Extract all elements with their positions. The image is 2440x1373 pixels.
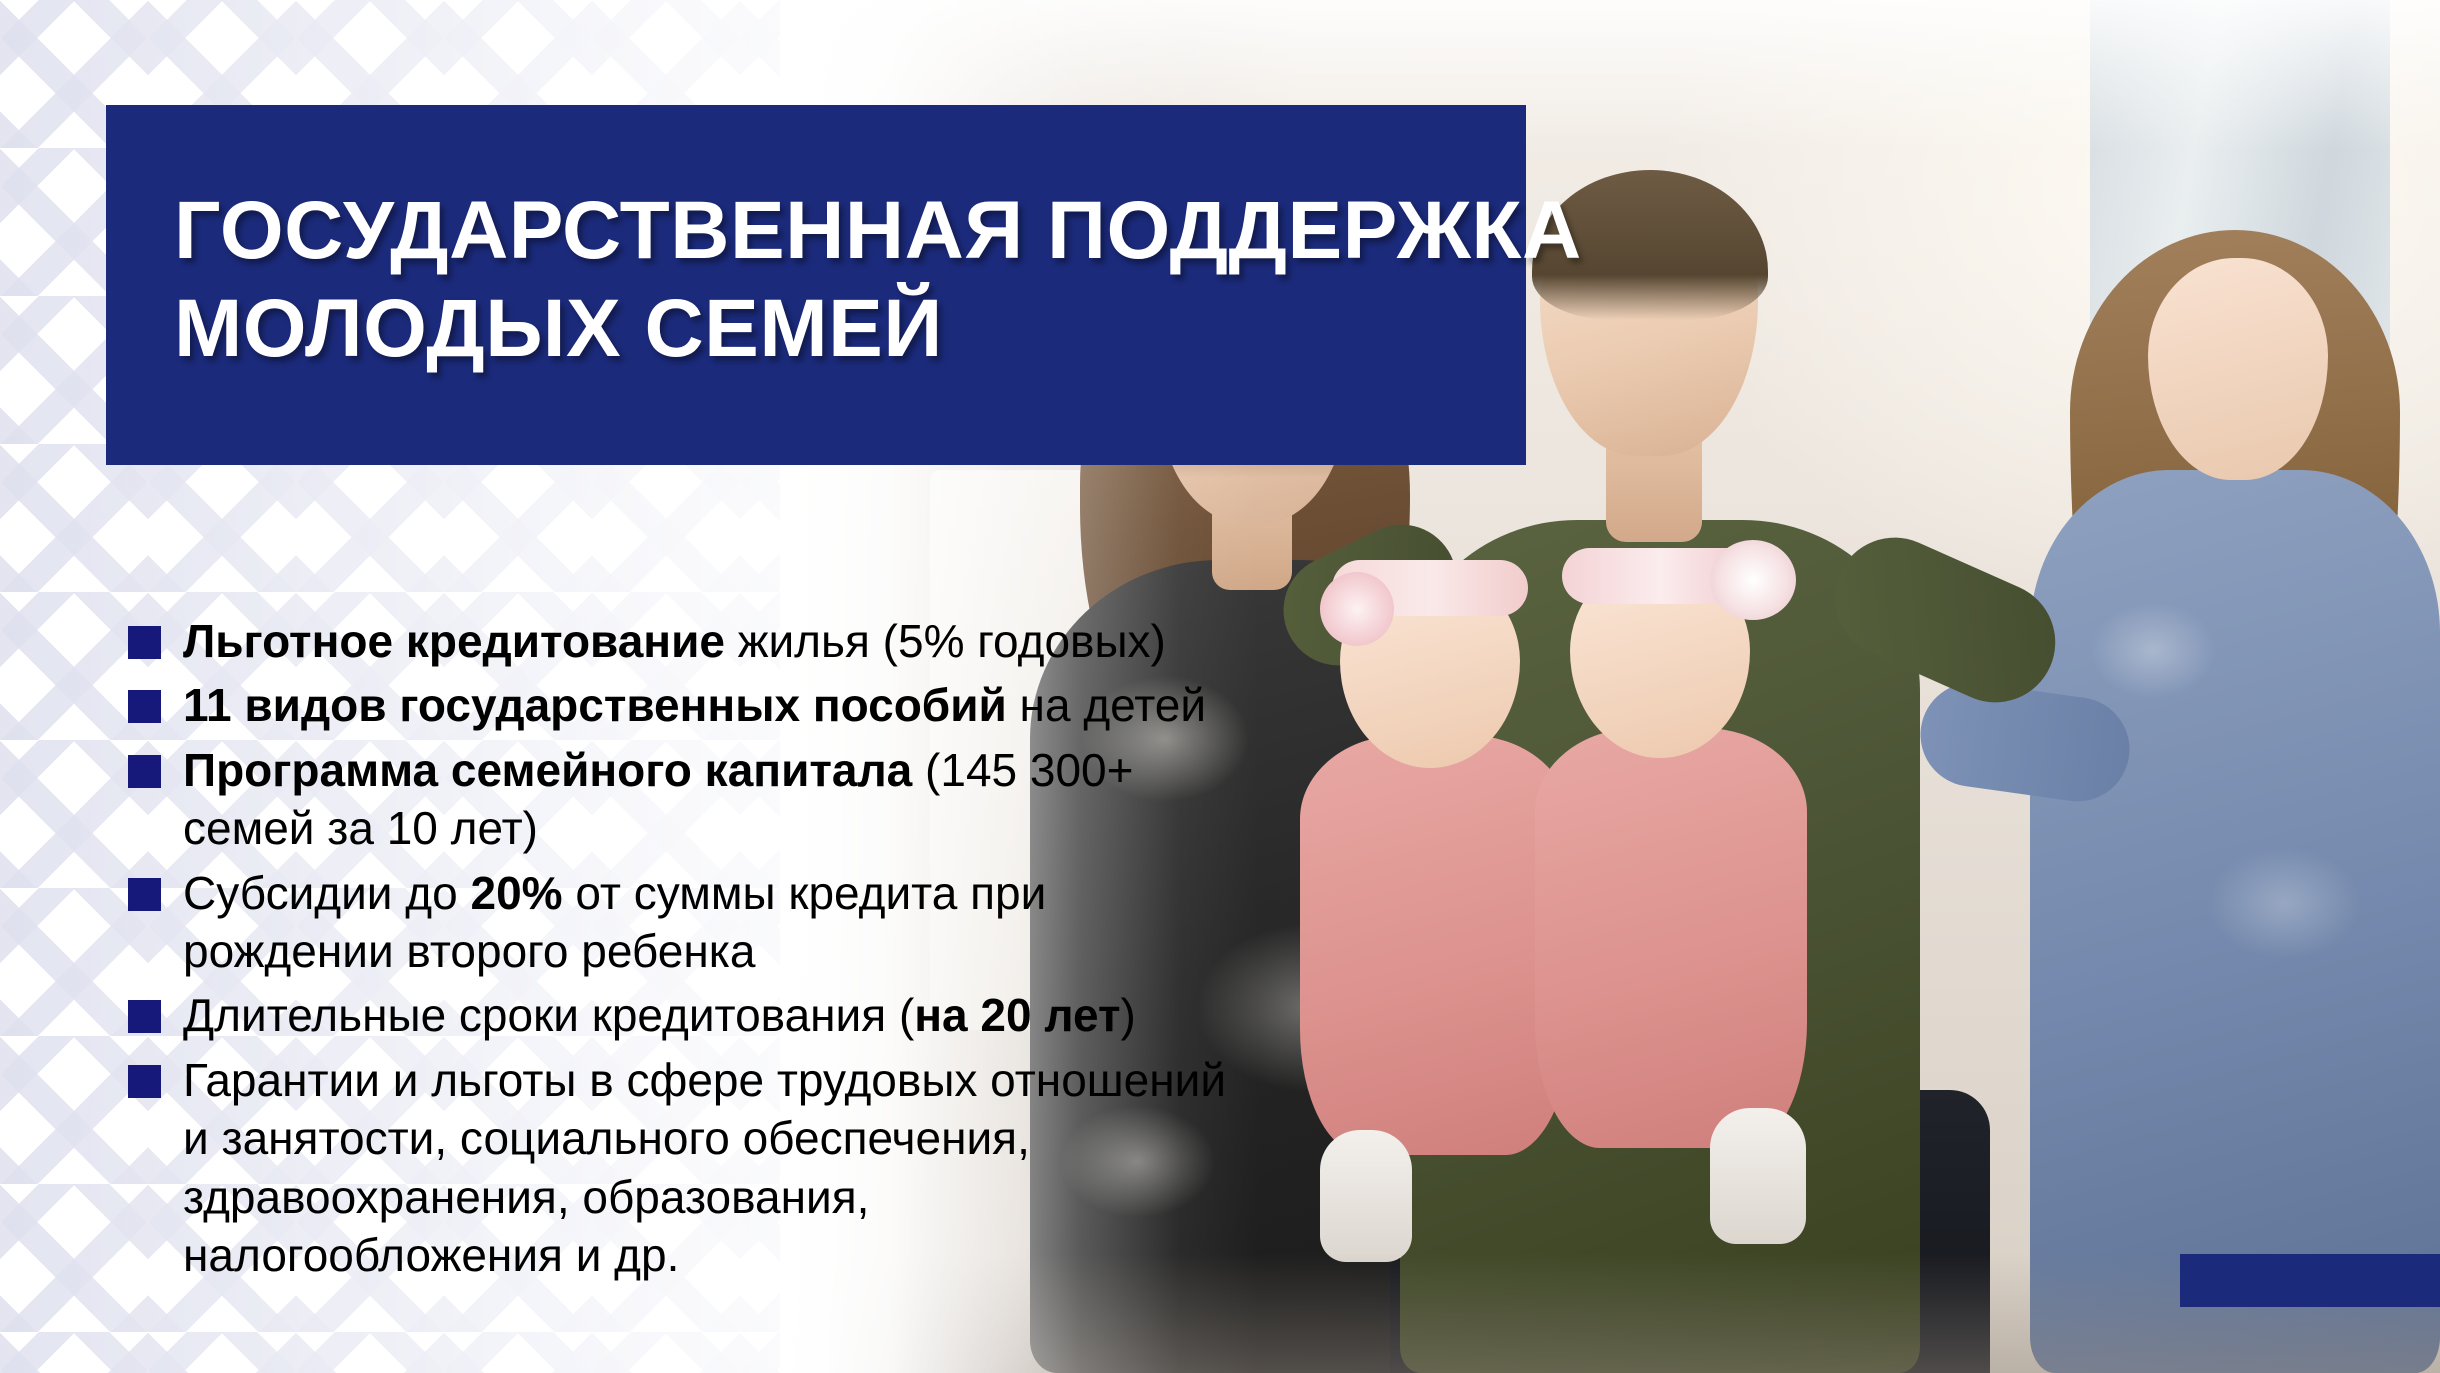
bullet-square-icon bbox=[128, 878, 161, 911]
bullet-pre: Субсидии до bbox=[183, 867, 470, 919]
bullet-rest: жилья (5% годовых) bbox=[725, 615, 1166, 667]
slide-canvas: ГОСУДАРСТВЕННАЯ ПОДДЕРЖКА МОЛОДЫХ СЕМЕЙ … bbox=[0, 0, 2440, 1373]
twin-right-flower bbox=[1710, 540, 1796, 620]
bullet-text-preferential-lending: Льготное кредитование жилья (5% годовых) bbox=[183, 612, 1166, 670]
list-item: Программа семейного капитала (145 300+ с… bbox=[128, 741, 1258, 858]
benefits-list: Льготное кредитование жилья (5% годовых)… bbox=[128, 612, 1258, 1290]
bullet-text-long-terms: Длительные сроки кредитования (на 20 лет… bbox=[183, 986, 1136, 1044]
girl-body bbox=[2030, 470, 2440, 1373]
bullet-text-guarantees: Гарантии и льготы в сфере трудовых отнош… bbox=[183, 1051, 1258, 1285]
twin-right-sock bbox=[1710, 1108, 1806, 1244]
bullet-text-family-capital: Программа семейного капитала (145 300+ с… bbox=[183, 741, 1258, 858]
bullet-post: ) bbox=[1120, 989, 1135, 1041]
bullet-square-icon bbox=[128, 1065, 161, 1098]
bullet-square-icon bbox=[128, 690, 161, 723]
twin-left-body bbox=[1300, 735, 1570, 1155]
bullet-bold-lead: Льготное кредитование bbox=[183, 615, 725, 667]
list-item: 11 видов государственных пособий на дете… bbox=[128, 676, 1258, 734]
bullet-bold-mid: 20% bbox=[470, 867, 562, 919]
page-title-line-2: МОЛОДЫХ СЕМЕЙ bbox=[174, 287, 1526, 371]
bullet-pre: Длительные сроки кредитования ( bbox=[183, 989, 914, 1041]
list-item: Льготное кредитование жилья (5% годовых) bbox=[128, 612, 1258, 670]
list-item: Субсидии до 20% от суммы кредита при рож… bbox=[128, 864, 1258, 981]
bullet-rest: на детей bbox=[1007, 679, 1206, 731]
bullet-text-subsidies: Субсидии до 20% от суммы кредита при рож… bbox=[183, 864, 1258, 981]
twin-left-sock bbox=[1320, 1130, 1412, 1262]
list-item: Длительные сроки кредитования (на 20 лет… bbox=[128, 986, 1258, 1044]
bullet-bold-lead: 11 видов государственных пособий bbox=[183, 679, 1007, 731]
bullet-bold-lead: Программа семейного капитала bbox=[183, 744, 912, 796]
bullet-square-icon bbox=[128, 1000, 161, 1033]
bullet-square-icon bbox=[128, 626, 161, 659]
girl-head bbox=[2148, 258, 2328, 480]
accent-bar bbox=[2180, 1254, 2440, 1307]
bullet-text-state-benefits: 11 видов государственных пособий на дете… bbox=[183, 676, 1206, 734]
list-item: Гарантии и льготы в сфере трудовых отнош… bbox=[128, 1051, 1258, 1285]
page-title-line-1: ГОСУДАРСТВЕННАЯ ПОДДЕРЖКА bbox=[174, 189, 1526, 273]
bullet-bold-mid: на 20 лет bbox=[914, 989, 1120, 1041]
twin-left-flower bbox=[1320, 572, 1394, 646]
bullet-square-icon bbox=[128, 755, 161, 788]
title-banner: ГОСУДАРСТВЕННАЯ ПОДДЕРЖКА МОЛОДЫХ СЕМЕЙ bbox=[106, 105, 1526, 465]
twin-right-body bbox=[1535, 728, 1807, 1148]
